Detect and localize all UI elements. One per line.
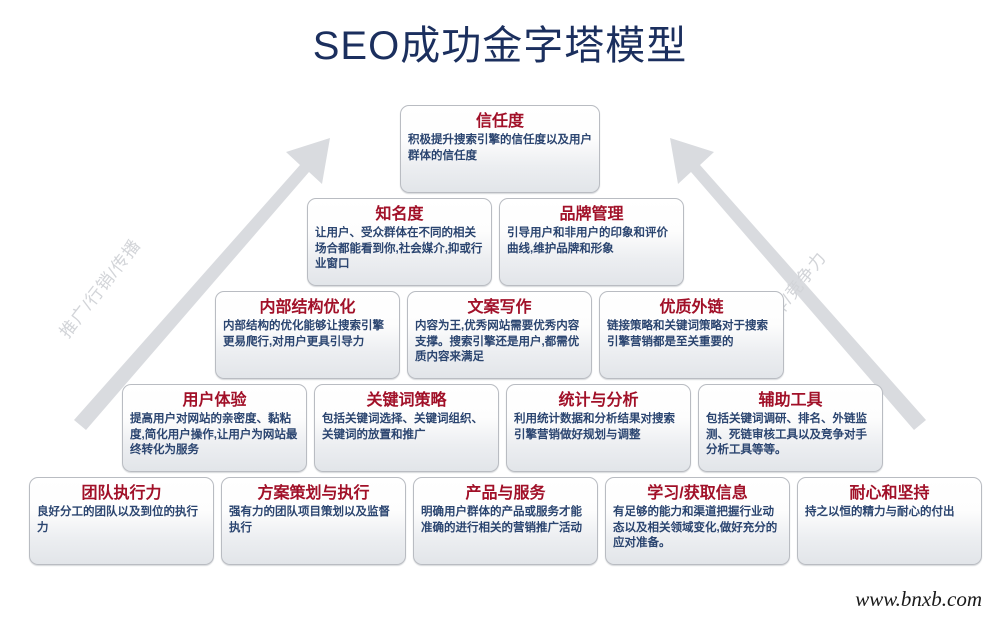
box-title: 知名度 bbox=[315, 204, 484, 225]
pyramid-box[interactable]: 统计与分析 利用统计数据和分析结果对搜索引擎营销做好规划与调整 bbox=[506, 384, 691, 472]
box-description: 内部结构的优化能够让搜索引擎更易爬行,对用户更具引导力 bbox=[223, 319, 392, 350]
box-description: 包括关键词调研、排名、外链监测、死链审核工具以及竞争对手分析工具等等。 bbox=[706, 412, 875, 459]
pyramid-box[interactable]: 团队执行力 良好分工的团队以及到位的执行力 bbox=[29, 477, 214, 565]
box-title: 学习/获取信息 bbox=[613, 483, 782, 504]
pyramid-box[interactable]: 用户体验 提高用户对网站的亲密度、黏粘度,简化用户操作,让用户为网站最终转化为服… bbox=[122, 384, 307, 472]
box-description: 链接策略和关键词策略对于搜索引擎营销都是至关重要的 bbox=[607, 319, 776, 350]
pyramid-row-5: 团队执行力 良好分工的团队以及到位的执行力 方案策划与执行 强有力的团队项目策划… bbox=[29, 477, 982, 565]
box-description: 持之以恒的精力与耐心的付出 bbox=[805, 505, 974, 521]
box-description: 包括关键词选择、关键词组织、关键词的放置和推广 bbox=[322, 412, 491, 443]
pyramid-row-2: 知名度 让用户、受众群体在不同的相关场合都能看到你,社会媒介,抑或行业窗口 品牌… bbox=[307, 198, 684, 286]
box-description: 内容为王,优秀网站需要优秀内容支撑。搜索引擎还是用户,都需优质内容来满足 bbox=[415, 319, 584, 366]
box-description: 良好分工的团队以及到位的执行力 bbox=[37, 505, 206, 536]
box-title: 优质外链 bbox=[607, 297, 776, 318]
box-title: 品牌管理 bbox=[507, 204, 676, 225]
box-title: 方案策划与执行 bbox=[229, 483, 398, 504]
diagram-canvas: SEO成功金字塔模型 推广/行销/传播 团队合作/竞争力 信任度 积极提升搜索引… bbox=[0, 0, 1000, 620]
box-title: 信任度 bbox=[408, 111, 592, 132]
left-arrow-label: 推广/行销/传播 bbox=[52, 233, 145, 343]
box-title: 产品与服务 bbox=[421, 483, 590, 504]
box-title: 用户体验 bbox=[130, 390, 299, 411]
site-watermark: www.bnxb.com bbox=[855, 587, 982, 612]
pyramid-box[interactable]: 内部结构优化 内部结构的优化能够让搜索引擎更易爬行,对用户更具引导力 bbox=[215, 291, 400, 379]
pyramid-box[interactable]: 品牌管理 引导用户和非用户的印象和评价曲线,维护品牌和形象 bbox=[499, 198, 684, 286]
box-description: 明确用户群体的产品或服务才能准确的进行相关的营销推广活动 bbox=[421, 505, 590, 536]
box-title: 耐心和坚持 bbox=[805, 483, 974, 504]
box-title: 团队执行力 bbox=[37, 483, 206, 504]
pyramid-box[interactable]: 优质外链 链接策略和关键词策略对于搜索引擎营销都是至关重要的 bbox=[599, 291, 784, 379]
pyramid-box[interactable]: 学习/获取信息 有足够的能力和渠道把握行业动态以及相关领域变化,做好充分的应对准… bbox=[605, 477, 790, 565]
box-description: 让用户、受众群体在不同的相关场合都能看到你,社会媒介,抑或行业窗口 bbox=[315, 226, 484, 273]
pyramid-box[interactable]: 产品与服务 明确用户群体的产品或服务才能准确的进行相关的营销推广活动 bbox=[413, 477, 598, 565]
box-description: 积极提升搜索引擎的信任度以及用户群体的信任度 bbox=[408, 133, 592, 164]
pyramid-box[interactable]: 知名度 让用户、受众群体在不同的相关场合都能看到你,社会媒介,抑或行业窗口 bbox=[307, 198, 492, 286]
pyramid-box[interactable]: 文案写作 内容为王,优秀网站需要优秀内容支撑。搜索引擎还是用户,都需优质内容来满… bbox=[407, 291, 592, 379]
box-title: 辅助工具 bbox=[706, 390, 875, 411]
box-title: 文案写作 bbox=[415, 297, 584, 318]
box-description: 利用统计数据和分析结果对搜索引擎营销做好规划与调整 bbox=[514, 412, 683, 443]
pyramid-box[interactable]: 耐心和坚持 持之以恒的精力与耐心的付出 bbox=[797, 477, 982, 565]
pyramid-box[interactable]: 信任度 积极提升搜索引擎的信任度以及用户群体的信任度 bbox=[400, 105, 600, 193]
pyramid-row-3: 内部结构优化 内部结构的优化能够让搜索引擎更易爬行,对用户更具引导力 文案写作 … bbox=[215, 291, 784, 379]
box-description: 引导用户和非用户的印象和评价曲线,维护品牌和形象 bbox=[507, 226, 676, 257]
box-title: 统计与分析 bbox=[514, 390, 683, 411]
box-description: 强有力的团队项目策划以及监督执行 bbox=[229, 505, 398, 536]
pyramid-box[interactable]: 关键词策略 包括关键词选择、关键词组织、关键词的放置和推广 bbox=[314, 384, 499, 472]
page-title: SEO成功金字塔模型 bbox=[0, 18, 1000, 74]
box-title: 关键词策略 bbox=[322, 390, 491, 411]
box-title: 内部结构优化 bbox=[223, 297, 392, 318]
pyramid-box[interactable]: 方案策划与执行 强有力的团队项目策划以及监督执行 bbox=[221, 477, 406, 565]
pyramid-row-1: 信任度 积极提升搜索引擎的信任度以及用户群体的信任度 bbox=[400, 105, 600, 193]
box-description: 有足够的能力和渠道把握行业动态以及相关领域变化,做好充分的应对准备。 bbox=[613, 505, 782, 552]
pyramid-box[interactable]: 辅助工具 包括关键词调研、排名、外链监测、死链审核工具以及竞争对手分析工具等等。 bbox=[698, 384, 883, 472]
box-description: 提高用户对网站的亲密度、黏粘度,简化用户操作,让用户为网站最终转化为服务 bbox=[130, 412, 299, 459]
pyramid-row-4: 用户体验 提高用户对网站的亲密度、黏粘度,简化用户操作,让用户为网站最终转化为服… bbox=[122, 384, 883, 472]
